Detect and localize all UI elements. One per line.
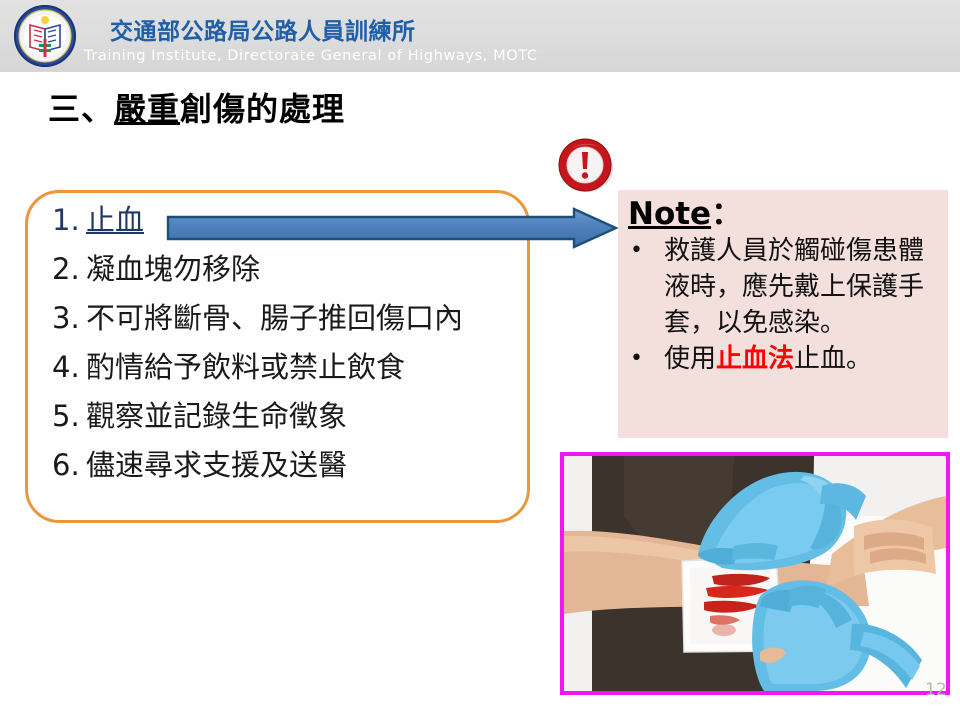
institute-subtitle: Training Institute, Directorate General … [84,48,538,64]
list-item-label: 酌情給予飲料或禁止飲食 [86,350,405,384]
list-item: 5.觀察並記錄生命徵象 [52,392,522,441]
right-block-arrow-icon [166,206,618,250]
bullet-dot-icon: • [628,233,664,269]
page-title-emphasis: 嚴重 [114,90,180,128]
list-item-label: 不可將斷骨、腸子推回傷口內 [86,301,463,335]
list-item: 3.不可將斷骨、腸子推回傷口內 [52,294,522,343]
institute-emblem-icon [12,3,78,69]
list-item: • 使用止血法止血。 [628,341,938,377]
first-aid-wound-dressing-photo [560,452,950,695]
warning-exclamation-icon [554,136,618,194]
list-item: 4.酌情給予飲料或禁止飲食 [52,343,522,392]
note-bullet-text-pre: 使用 [664,344,716,374]
note-bullet-text: 救護人員於觸碰傷患體液時，應先戴上保護手套，以免感染。 [664,233,938,341]
list-item: 2.凝血塊勿移除 [52,245,522,294]
list-item: 6.儘速尋求支援及送醫 [52,441,522,490]
note-heading-colon: ： [711,196,742,232]
list-item-number: 5. [52,392,86,441]
list-item-label: 凝血塊勿移除 [86,252,260,286]
list-item-number: 2. [52,245,86,294]
page-number: 12 [925,680,947,700]
list-item-label: 觀察並記錄生命徵象 [86,399,347,433]
note-heading: Note： [628,196,938,233]
page-title-rest: 創傷的處理 [180,90,345,128]
bullet-dot-icon: • [628,341,664,377]
note-bullet-text: 使用止血法止血。 [664,341,938,377]
list-item-number: 1. [52,196,86,245]
note-bullet-highlight: 止血法 [716,344,794,374]
note-bullet-text-post: 止血。 [794,344,872,374]
note-heading-label: Note [628,196,711,232]
list-item-number: 4. [52,343,86,392]
note-callout-box: Note： • 救護人員於觸碰傷患體液時，應先戴上保護手套，以免感染。 • 使用… [618,190,948,438]
list-item-number: 6. [52,441,86,490]
institute-title: 交通部公路局公路人員訓練所 [110,12,416,46]
list-item-label: 儘速尋求支援及送醫 [86,448,347,482]
page-title: 三、嚴重創傷的處理 [48,84,345,130]
page-title-prefix: 三、 [48,90,114,128]
list-item-label: 止血 [86,203,144,237]
list-item: • 救護人員於觸碰傷患體液時，應先戴上保護手套，以免感染。 [628,233,938,341]
list-item-number: 3. [52,294,86,343]
